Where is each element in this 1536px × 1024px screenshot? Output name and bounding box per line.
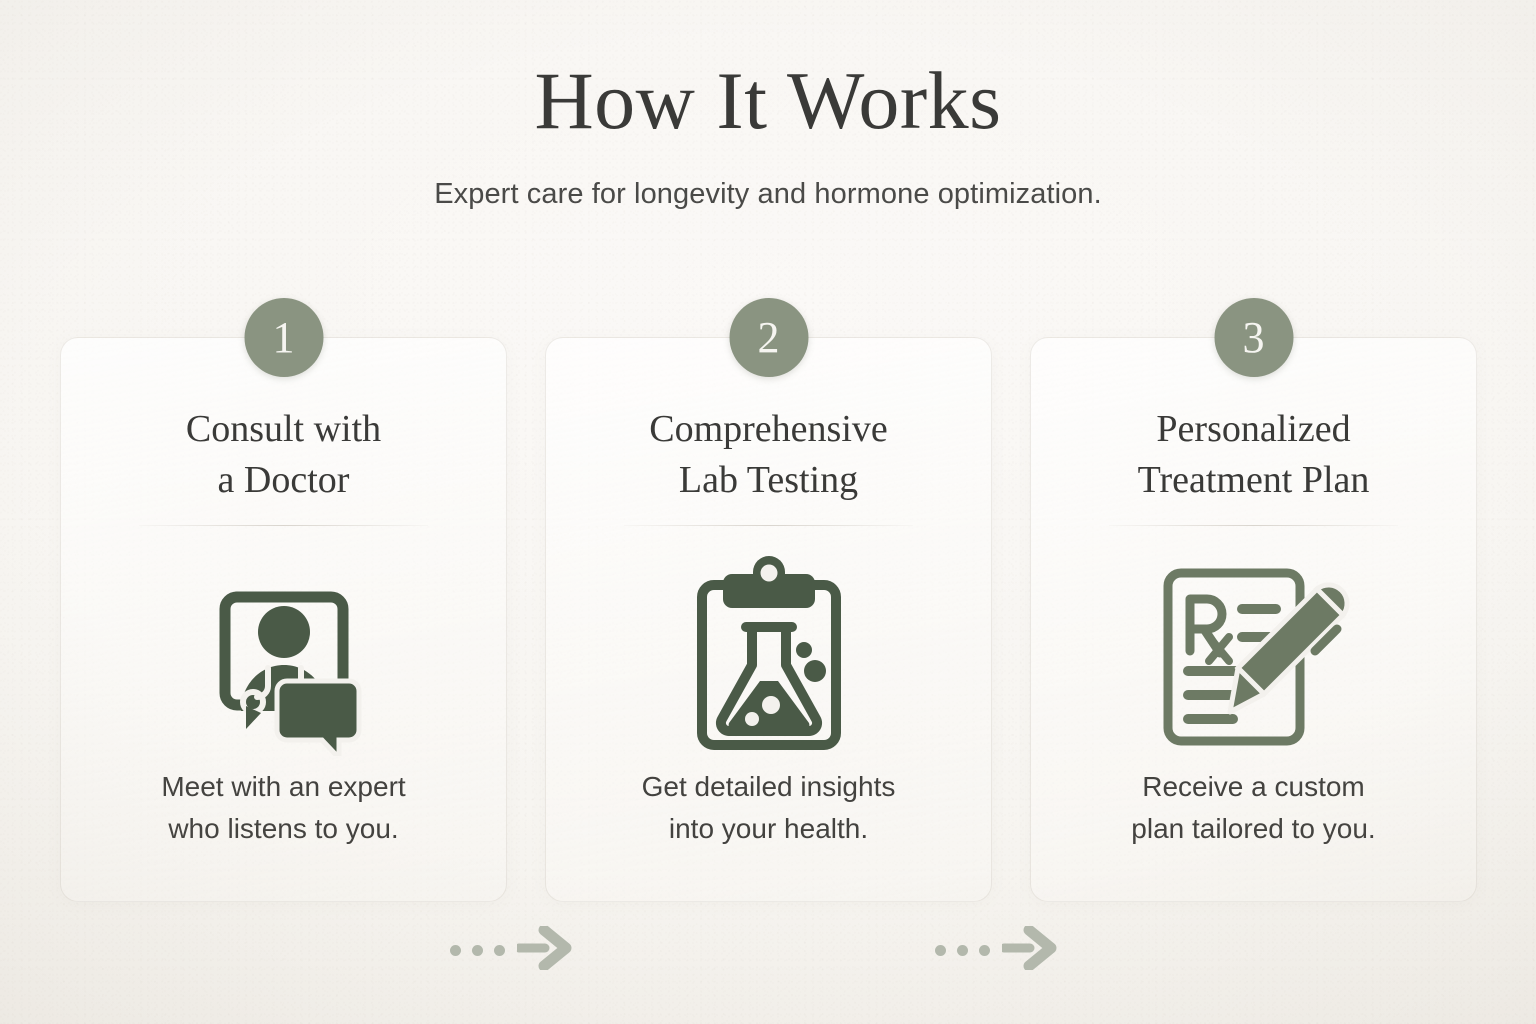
connector-dot — [472, 945, 483, 956]
connector-dot — [979, 945, 990, 956]
card-divider — [139, 525, 428, 526]
connector-dot — [494, 945, 505, 956]
page-subtitle: Expert care for longevity and hormone op… — [0, 178, 1536, 211]
connector-dot — [450, 945, 461, 956]
step-connector-1 — [450, 929, 565, 971]
step-connector-2 — [935, 929, 1050, 971]
prescription-pen-icon — [1031, 543, 1476, 768]
step-description-3: Receive a custom plan tailored to you. — [1055, 766, 1452, 851]
connector-dot — [935, 945, 946, 956]
step-number-badge-1: 1 — [244, 298, 323, 377]
clipboard-flask-icon — [546, 543, 991, 768]
step-title-2: Comprehensive Lab Testing — [570, 404, 967, 505]
card-divider — [624, 525, 913, 526]
arrow-right-icon — [1002, 926, 1058, 975]
step-number-badge-2: 2 — [729, 298, 808, 377]
arrow-right-icon — [517, 926, 573, 975]
doctor-video-consult-icon — [61, 543, 506, 768]
step-card-3[interactable]: 3 Personalized Treatment Plan — [1030, 337, 1477, 902]
step-description-2: Get detailed insights into your health. — [570, 766, 967, 851]
step-title-1: Consult with a Doctor — [85, 404, 482, 505]
steps-container: 1 Consult with a Doctor — [0, 337, 1536, 902]
step-description-1: Meet with an expert who listens to you. — [85, 766, 482, 851]
step-card-1[interactable]: 1 Consult with a Doctor — [60, 337, 507, 902]
page-title: How It Works — [0, 58, 1536, 144]
card-divider — [1109, 525, 1398, 526]
step-title-3: Personalized Treatment Plan — [1055, 404, 1452, 505]
connector-dot — [957, 945, 968, 956]
step-number-badge-3: 3 — [1214, 298, 1293, 377]
step-card-2[interactable]: 2 Comprehensive Lab Testing — [545, 337, 992, 902]
